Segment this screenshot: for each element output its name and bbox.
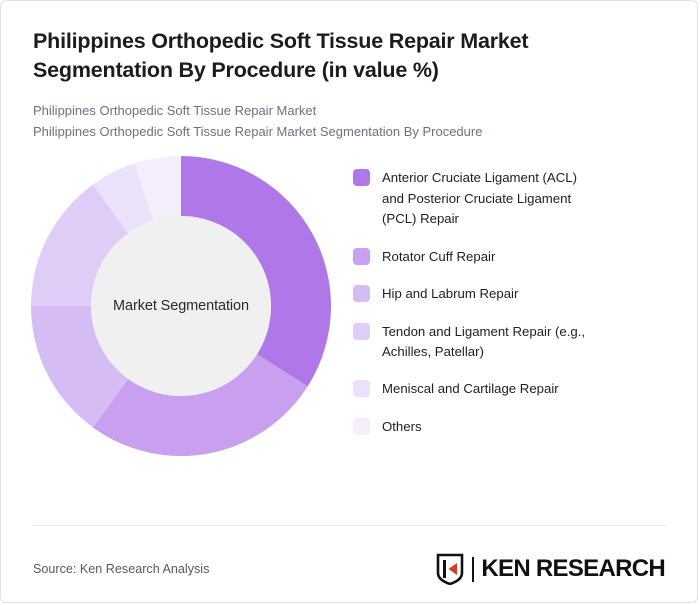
brand-name: KEN RESEARCH	[481, 557, 665, 581]
legend-item-label: Hip and Labrum Repair	[382, 284, 518, 304]
subtitle-secondary: Philippines Orthopedic Soft Tissue Repai…	[33, 121, 665, 142]
legend-item[interactable]: Meniscal and Cartilage Repair	[353, 379, 669, 399]
footer-divider	[32, 525, 666, 526]
legend-item-label: Meniscal and Cartilage Repair	[382, 379, 559, 399]
chart-footer: Source: Ken Research Analysis KEN RESEAR…	[1, 541, 697, 597]
legend-item-label: Anterior Cruciate Ligament (ACL) and Pos…	[382, 168, 597, 229]
page-title: Philippines Orthopedic Soft Tissue Repai…	[33, 27, 633, 84]
legend-swatch-icon	[353, 323, 370, 340]
legend-swatch-icon	[353, 380, 370, 397]
donut-chart: Market Segmentation	[31, 156, 341, 462]
legend-item-label: Rotator Cuff Repair	[382, 247, 495, 267]
source-note: Source: Ken Research Analysis	[33, 562, 209, 576]
chart-body: Market Segmentation Anterior Cruciate Li…	[1, 156, 697, 456]
donut-svg	[31, 156, 331, 456]
brand-separator	[472, 557, 474, 582]
legend-item[interactable]: Others	[353, 417, 669, 437]
chart-legend: Anterior Cruciate Ligament (ACL) and Pos…	[341, 156, 669, 454]
brand-logo: KEN RESEARCH	[435, 553, 665, 585]
legend-swatch-icon	[353, 169, 370, 186]
legend-swatch-icon	[353, 248, 370, 265]
legend-item[interactable]: Rotator Cuff Repair	[353, 247, 669, 267]
ken-research-shield-icon	[435, 553, 465, 585]
chart-card: Philippines Orthopedic Soft Tissue Repai…	[0, 0, 698, 603]
legend-item[interactable]: Hip and Labrum Repair	[353, 284, 669, 304]
subtitle-group: Philippines Orthopedic Soft Tissue Repai…	[33, 100, 665, 142]
legend-item[interactable]: Tendon and Ligament Repair (e.g., Achill…	[353, 322, 669, 363]
legend-item[interactable]: Anterior Cruciate Ligament (ACL) and Pos…	[353, 168, 669, 229]
chart-header: Philippines Orthopedic Soft Tissue Repai…	[1, 1, 697, 142]
legend-swatch-icon	[353, 285, 370, 302]
donut-hole	[91, 216, 271, 396]
subtitle-primary: Philippines Orthopedic Soft Tissue Repai…	[33, 100, 665, 121]
legend-item-label: Others	[382, 417, 422, 437]
legend-item-label: Tendon and Ligament Repair (e.g., Achill…	[382, 322, 597, 363]
legend-swatch-icon	[353, 418, 370, 435]
